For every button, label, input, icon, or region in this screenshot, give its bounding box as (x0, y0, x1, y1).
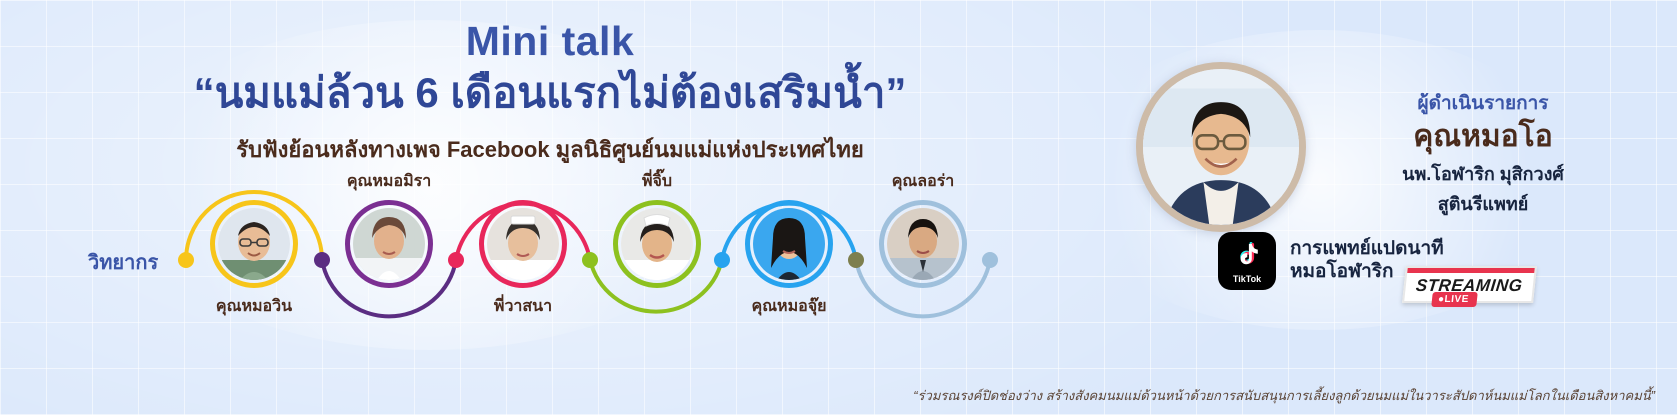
subtitle: รับฟังย้อนหลังทางเพจ Facebook มูลนิธิศูน… (0, 132, 1100, 167)
avatar-2 (353, 208, 425, 280)
host-full-name: นพ.โอฬาริก มุสิกวงศ์ (1318, 159, 1648, 188)
tiktok-wordmark: TikTok (1233, 274, 1261, 284)
headline-block: Mini talk “นมแม่ล้วน 6 เดือนแรกไม่ต้องเส… (0, 18, 1100, 167)
streaming-badge-bar (1407, 268, 1534, 273)
speaker-card-2[interactable]: คุณหมอมิรา (345, 200, 433, 288)
speaker-name-3: พี่วาสนา (494, 294, 552, 319)
speaker-avatar-ring-5 (745, 200, 833, 288)
avatar-6 (887, 208, 959, 280)
speaker-name-5: คุณหมอจุ๊ย (752, 294, 827, 319)
speaker-name-4: พี่จิ๊บ (642, 169, 672, 194)
host-specialty: สูตินรีแพทย์ (1318, 189, 1648, 218)
speaker-avatar-ring-3 (479, 200, 567, 288)
speaker-avatar-ring-6 (879, 200, 967, 288)
host-avatar (1136, 62, 1306, 232)
avatar-1 (218, 208, 290, 280)
speaker-card-1[interactable]: คุณหมอวิน (210, 200, 298, 288)
portrait-host-male-doctor (1143, 69, 1299, 225)
avatar-4 (621, 208, 693, 280)
portrait-female-doctor (353, 208, 425, 280)
tiktok-icon[interactable]: TikTok (1218, 232, 1276, 290)
speakers-rail: คุณหมอวิน คุณหมอมิรา (0, 175, 1070, 340)
speaker-name-6: คุณลอร่า (892, 169, 955, 194)
portrait-female-long-hair (753, 208, 825, 280)
host-info: ผู้ดำเนินรายการ คุณหมอโอ นพ.โอฬาริก มุสิ… (1318, 88, 1648, 218)
host-role-label: ผู้ดำเนินรายการ (1318, 88, 1648, 118)
page-title: Mini talk (0, 18, 1100, 65)
speaker-avatar-ring-4 (613, 200, 701, 288)
portrait-female-grey-suit (887, 208, 959, 280)
speaker-card-5[interactable]: คุณหมอจุ๊ย (745, 200, 833, 288)
speaker-card-3[interactable]: พี่วาสนา (479, 200, 567, 288)
banner-background: Mini talk “นมแม่ล้วน 6 เดือนแรกไม่ต้องเส… (0, 0, 1677, 415)
portrait-female-nurse-cap (487, 208, 559, 280)
speaker-name-1: คุณหมอวิน (216, 294, 292, 319)
portrait-female-white-cap (621, 208, 693, 280)
speaker-card-4[interactable]: พี่จิ๊บ (613, 200, 701, 288)
tiktok-note-glyph (1230, 239, 1264, 273)
speaker-card-6[interactable]: คุณลอร่า (879, 200, 967, 288)
portrait-male-glasses (218, 208, 290, 280)
footer-quote: “ร่วมรณรงค์ปิดช่องว่าง สร้างสังคมนมแม่ด้… (913, 385, 1655, 406)
host-nickname: คุณหมอโอ (1318, 120, 1648, 153)
speaker-name-2: คุณหมอมิรา (347, 169, 431, 194)
channel-caption-line1: การแพทย์แปดนาที (1290, 238, 1444, 261)
title-quote: “นมแม่ล้วน 6 เดือนแรกไม่ต้องเสริมน้ำ” (0, 67, 1100, 120)
avatar-5 (753, 208, 825, 280)
speaker-avatar-ring-1 (210, 200, 298, 288)
live-badge: ●LIVE (1431, 292, 1477, 307)
speaker-avatar-ring-2 (345, 200, 433, 288)
avatar-3 (487, 208, 559, 280)
